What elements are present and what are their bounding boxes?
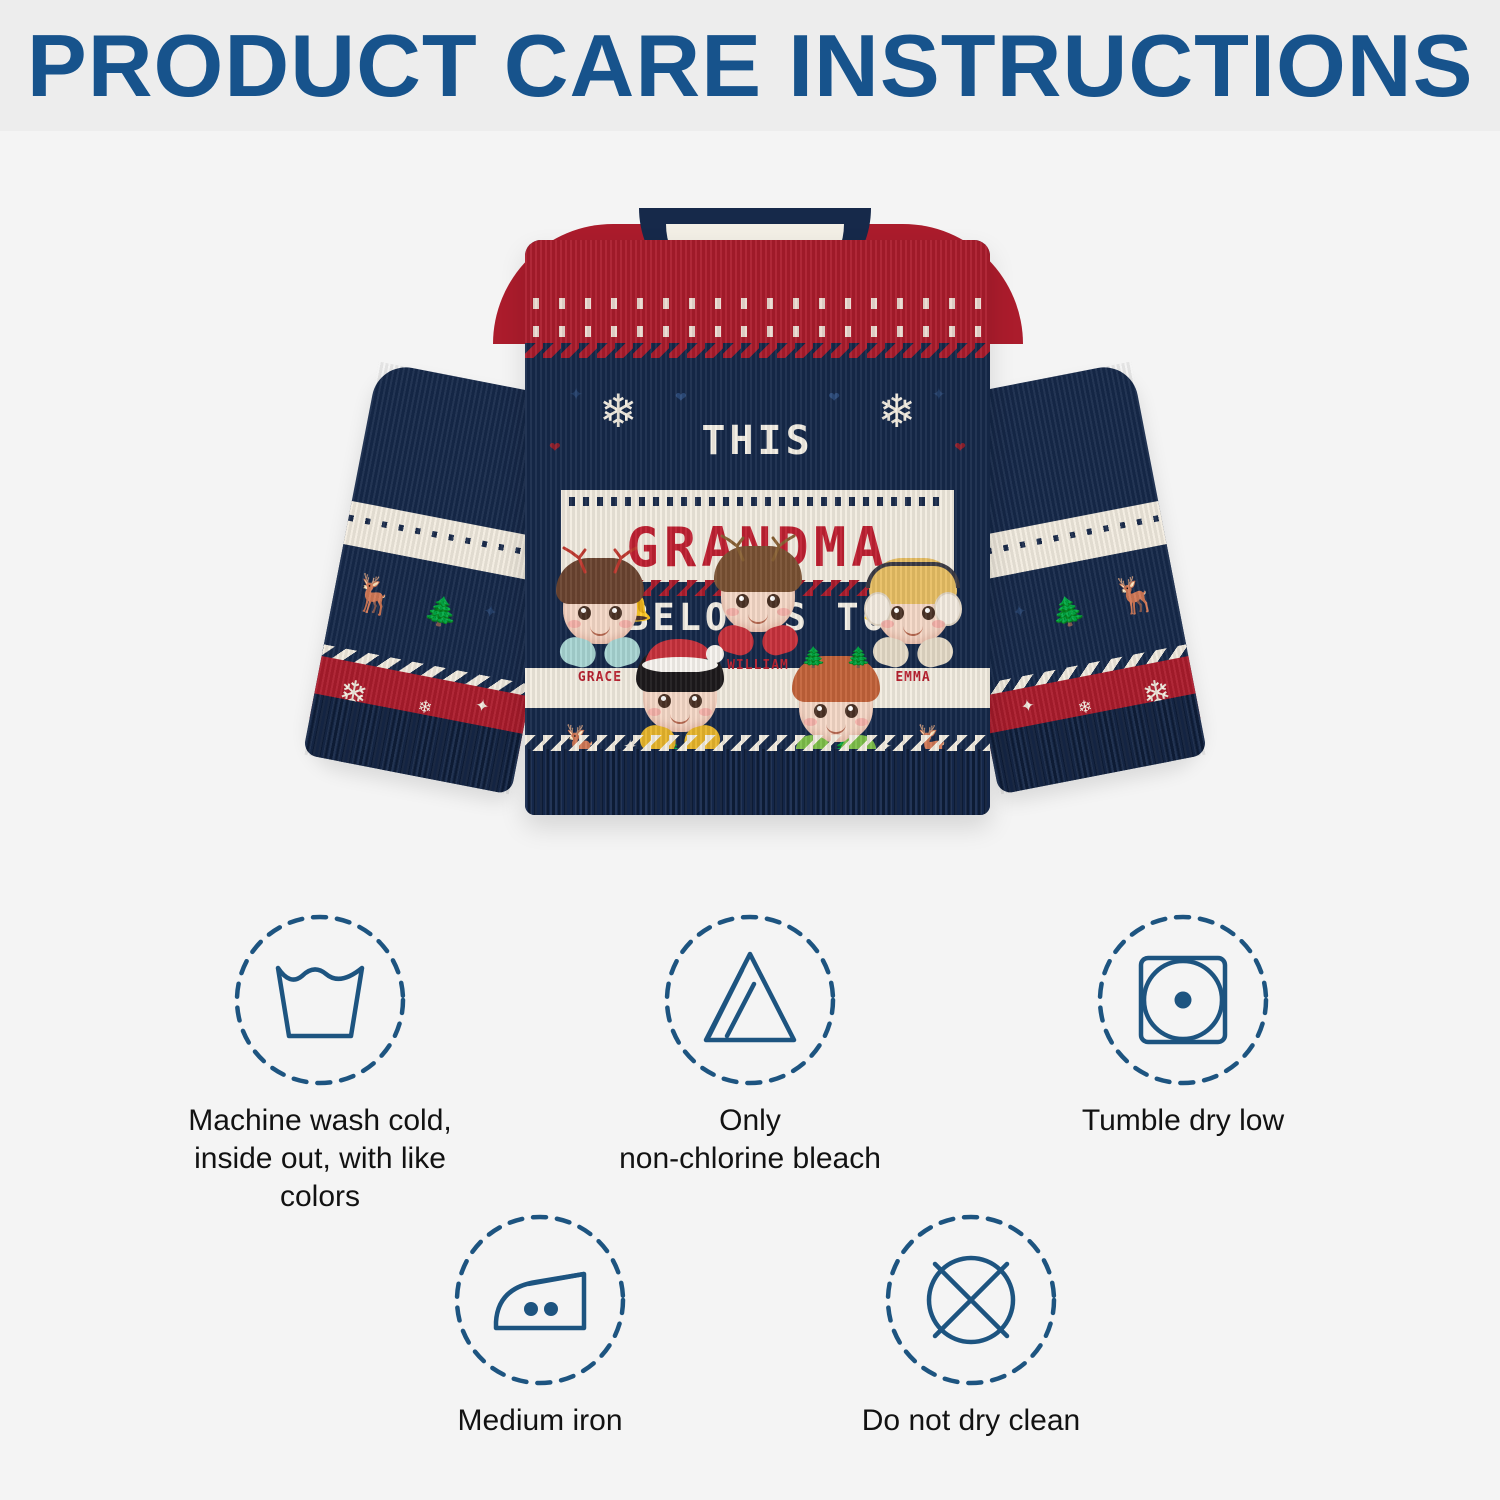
character-face xyxy=(876,570,950,644)
character-face xyxy=(563,570,637,644)
care-label: Do not dry clean xyxy=(806,1402,1136,1440)
sweater-hem xyxy=(525,749,990,815)
care-label: Medium iron xyxy=(375,1402,705,1440)
page-title: PRODUCT CARE INSTRUCTIONS xyxy=(27,22,1474,110)
character-face: 🌲 🌲 xyxy=(799,668,873,742)
santa-hat-icon xyxy=(633,632,727,672)
care-label: Tumble dry low xyxy=(1018,1102,1348,1140)
sweater-body: ❄ ❄ ✦ ✦ ❤ ❤ ❤ ❤ THIS GRANDMA BELONGS TO … xyxy=(525,240,990,815)
care-item-no-dry-clean: Do not dry clean xyxy=(806,1212,1136,1440)
care-item-tumble-dry: Tumble dry low xyxy=(1018,912,1348,1140)
iron-icon xyxy=(452,1212,628,1388)
character-grace: GRACE xyxy=(557,570,643,685)
character-emma: EMMA xyxy=(870,570,956,685)
antler-icon xyxy=(719,532,749,562)
character-name-label: EMMA xyxy=(870,670,956,685)
tumble-dry-icon xyxy=(1095,912,1271,1088)
care-item-machine-wash: Machine wash cold, inside out, with like… xyxy=(155,912,485,1215)
care-label: Machine wash cold, inside out, with like… xyxy=(155,1102,485,1215)
sweater-text-line1: THIS xyxy=(525,418,990,464)
sweater-red-yoke xyxy=(525,240,990,358)
character-name-label: GRACE xyxy=(557,670,643,685)
antler-icon xyxy=(561,544,591,574)
product-image-sweater: 🦌 🌲 ✦ ❄ ❄ ✦ 🦌 🌲 ✦ ❄ ❄ ✦ xyxy=(375,180,1135,870)
character-face xyxy=(643,658,717,732)
earmuff-band xyxy=(866,562,960,588)
wash-tub-icon xyxy=(232,912,408,1088)
character-william: WILLIAM xyxy=(715,558,801,673)
tree-clip-icon: 🌲 xyxy=(846,648,871,668)
no-dry-clean-icon xyxy=(883,1212,1059,1388)
tree-clip-icon: 🌲 xyxy=(801,648,826,668)
bleach-triangle-icon xyxy=(662,912,838,1088)
care-item-iron: Medium iron xyxy=(375,1212,705,1440)
antler-icon xyxy=(767,532,797,562)
character-name-label: WILLIAM xyxy=(715,658,801,673)
care-item-bleach: Only non-chlorine bleach xyxy=(585,912,915,1178)
page-header: PRODUCT CARE INSTRUCTIONS xyxy=(0,0,1500,131)
character-face xyxy=(721,558,795,632)
antler-icon xyxy=(609,544,639,574)
care-label: Only non-chlorine bleach xyxy=(585,1102,915,1178)
